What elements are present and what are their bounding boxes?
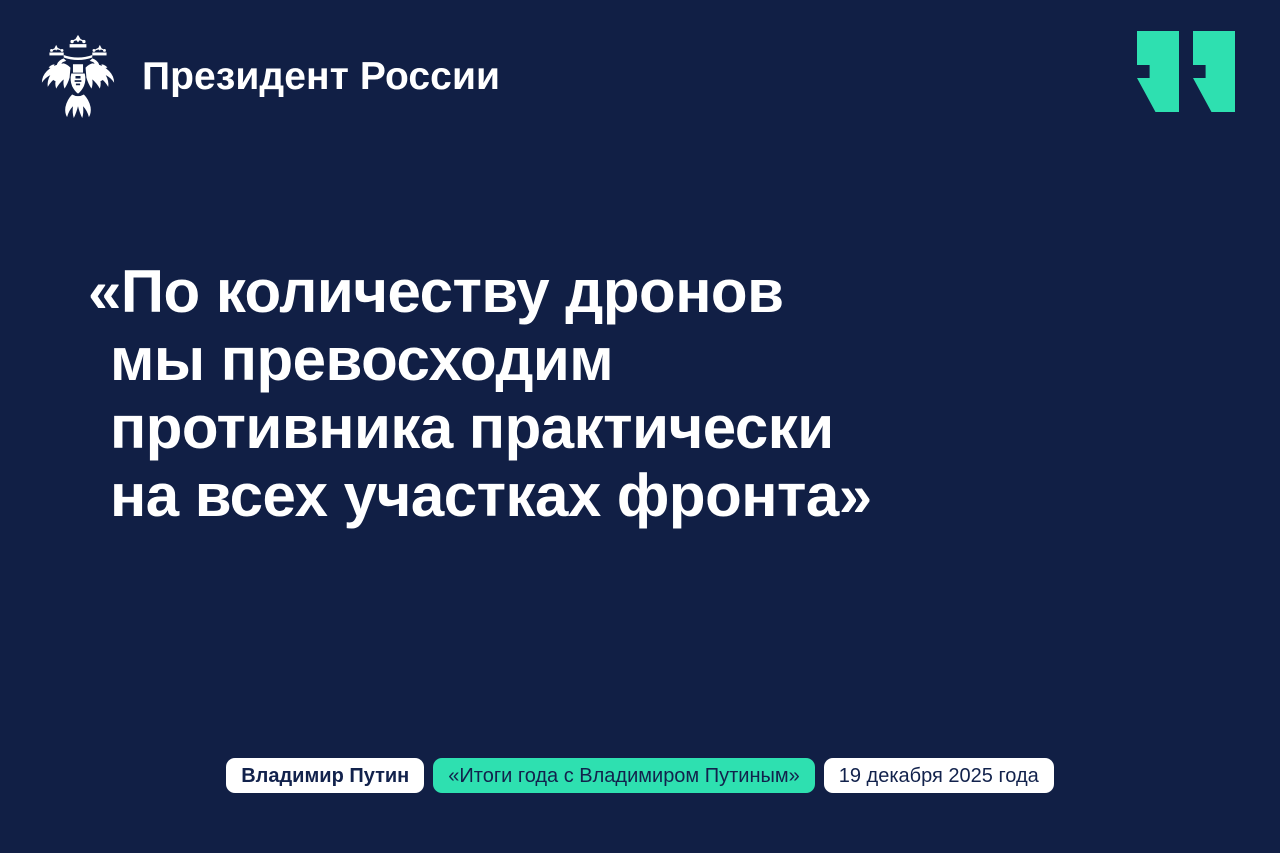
quote-line-1: «По количеству дронов bbox=[88, 258, 1128, 326]
russian-double-headed-eagle-emblem bbox=[36, 32, 120, 120]
badge-date: 19 декабря 2025 года bbox=[824, 758, 1054, 793]
footer-badges: Владимир Путин «Итоги года с Владимиром … bbox=[0, 758, 1280, 793]
quote-line-3: противника практически bbox=[88, 394, 1128, 462]
quote-card: Президент России «По количеству дронов м… bbox=[0, 0, 1280, 853]
badge-speaker: Владимир Путин bbox=[226, 758, 424, 793]
quote-glyph-left bbox=[1137, 31, 1179, 112]
page-title: Президент России bbox=[142, 57, 500, 96]
badge-event: «Итоги года с Владимиром Путиным» bbox=[433, 758, 814, 793]
quote-text: «По количеству дронов мы превосходим про… bbox=[88, 258, 1128, 530]
quote-line-4: на всех участках фронта» bbox=[88, 462, 1128, 530]
quote-glyph-right bbox=[1193, 31, 1235, 112]
closing-double-quote-mark bbox=[1137, 31, 1235, 112]
brand-header: Президент России bbox=[36, 28, 500, 124]
quote-line-2: мы превосходим bbox=[88, 326, 1128, 394]
